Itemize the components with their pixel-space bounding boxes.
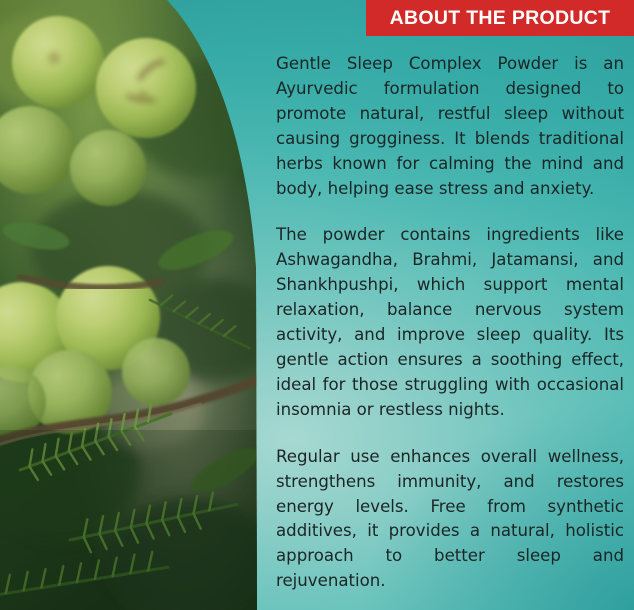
about-the-product-banner: ABOUT THE PRODUCT: [366, 0, 634, 36]
product-description: Gentle Sleep Complex Powder is an Ayurve…: [276, 52, 624, 594]
page-title: ABOUT THE PRODUCT: [390, 7, 611, 30]
about-the-product-poster: ABOUT THE PRODUCT Gentle Sleep Complex P…: [0, 0, 634, 610]
paragraph-3: Regular use enhances overall wellness, s…: [276, 445, 624, 594]
paragraph-2: The powder contains ingredients like Ash…: [276, 223, 624, 422]
paragraph-1: Gentle Sleep Complex Powder is an Ayurve…: [276, 52, 624, 201]
